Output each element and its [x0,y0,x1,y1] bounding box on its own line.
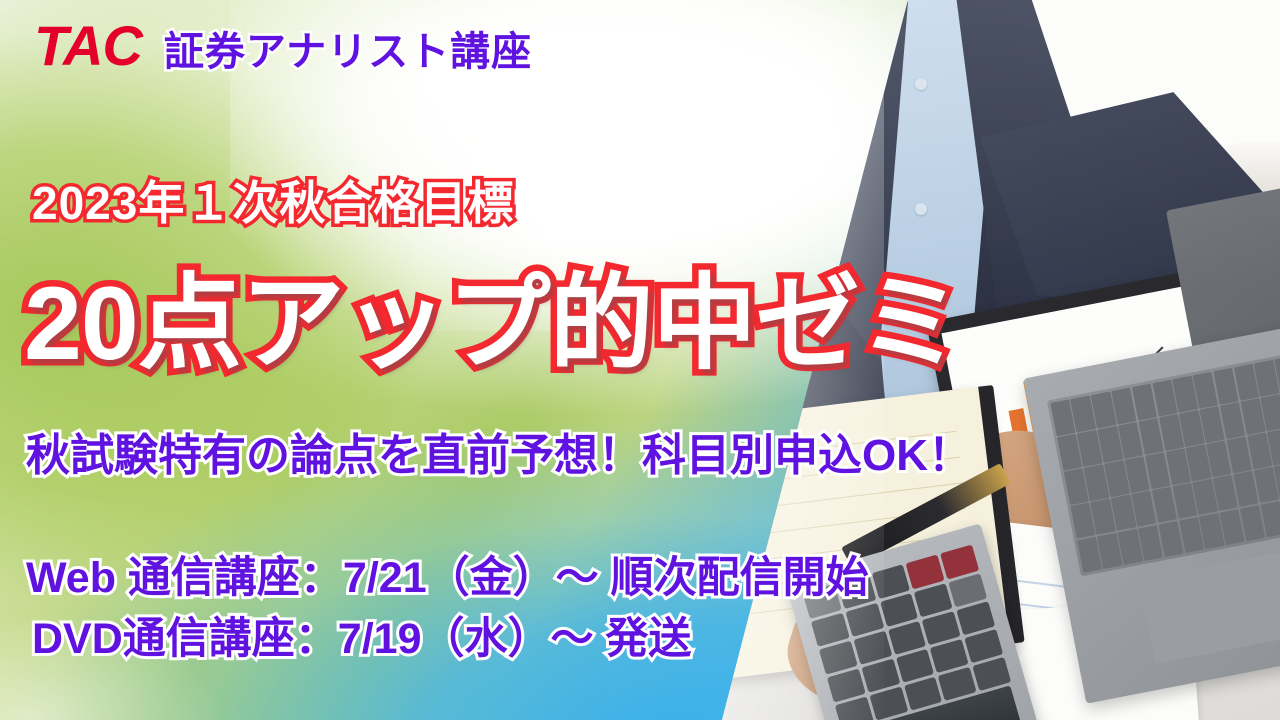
tac-logo: TAC [34,18,142,74]
promo-banner: TAC 証券アナリスト講座 2023年１次秋合格目標 20点アップ的中ゼミ 秋試… [0,0,1280,720]
text-layer: TAC 証券アナリスト講座 2023年１次秋合格目標 20点アップ的中ゼミ 秋試… [0,0,1280,720]
schedule-block: Web 通信講座：7/21（金）〜 順次配信開始 DVD通信講座：7/19（水）… [26,548,869,670]
main-headline: 20点アップ的中ゼミ [24,268,962,380]
schedule-line-dvd: DVD通信講座：7/19（水）〜 発送 [32,609,869,670]
goal-heading: 2023年１次秋合格目標 [32,178,514,229]
course-name-heading: 証券アナリスト講座 [164,32,532,72]
brand-header: TAC 証券アナリスト講座 [34,18,532,74]
tagline: 秋試験特有の論点を直前予想！科目別申込OK！ [26,432,972,480]
schedule-line-web: Web 通信講座：7/21（金）〜 順次配信開始 [26,548,869,609]
